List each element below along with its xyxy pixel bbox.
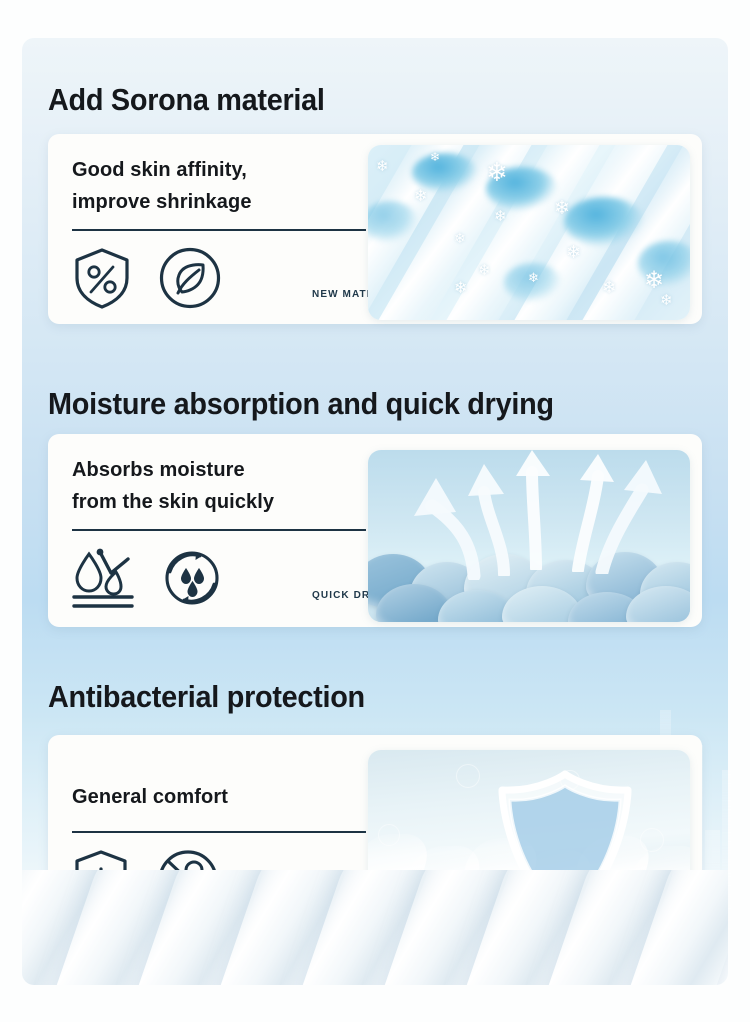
feature-photo-1: ❄ ❄ ❄ ❄ ❄ ❄ ❄ ❄ ❄ ❄ ❄ ❄ ❄ ❄ [368,145,690,320]
card-divider [72,229,366,231]
bottom-fabric-photo [22,870,728,985]
leaf-circle-icon [158,246,222,310]
water-cycle-circle-icon [160,546,224,610]
card-title-line-2: improve shrinkage [72,186,252,218]
card-divider [72,831,366,833]
product-feature-poster: Add Sorona material Good skin affinity, … [0,0,750,1022]
card-title-line-1: General comfort [72,781,228,813]
feature-photo-2 [368,450,690,622]
section-heading-3: Antibacterial protection [48,679,365,715]
card-title-line-2: from the skin quickly [72,486,274,518]
card-divider [72,529,366,531]
water-repellent-icon [72,546,134,610]
card-title-line-1: Good skin affinity, [72,154,247,186]
section-heading-1: Add Sorona material [48,82,325,118]
section-heading-2: Moisture absorption and quick drying [48,386,554,422]
card-title-line-1: Absorbs moisture [72,454,245,486]
shield-percent-icon [72,246,132,310]
